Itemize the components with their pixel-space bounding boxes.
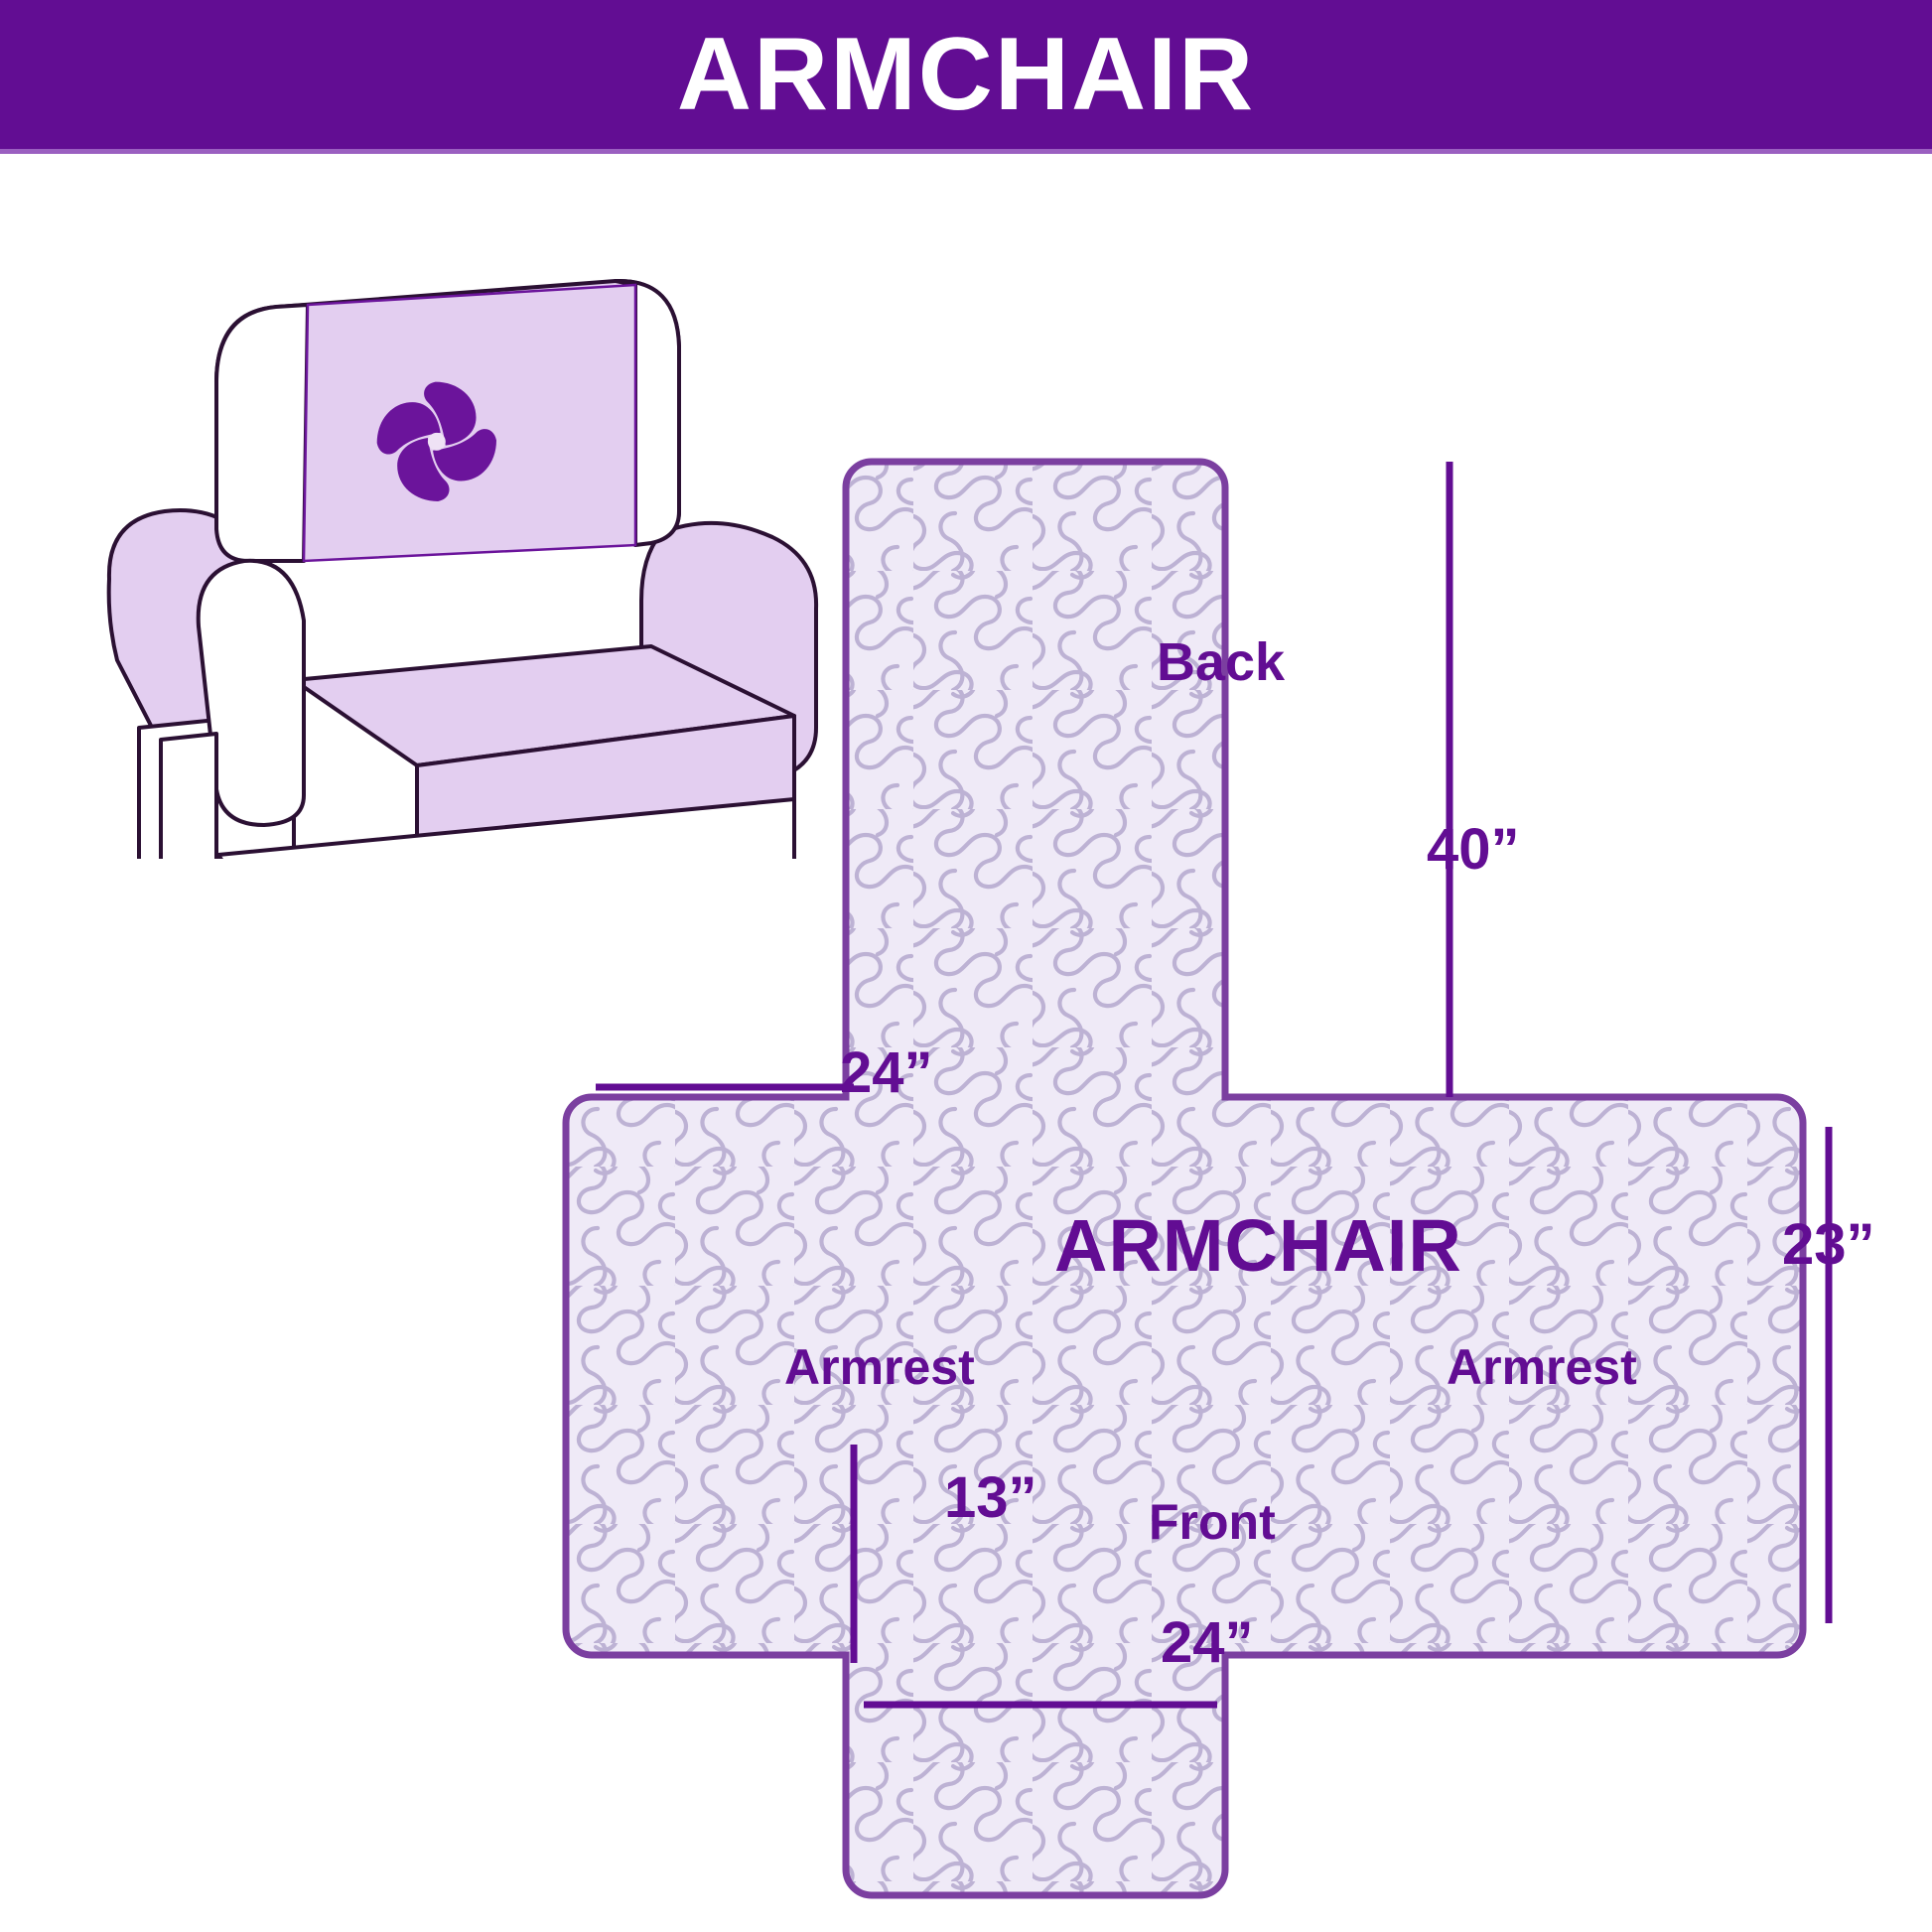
panel-label-front: Front <box>1149 1497 1276 1547</box>
panel-label-armrest-left: Armrest <box>784 1342 975 1392</box>
content-stage: Back ARMCHAIR Armrest Armrest Front 40” … <box>0 154 1932 1932</box>
panel-label-center: ARMCHAIR <box>1054 1209 1462 1283</box>
chair-left-base-panel <box>161 734 216 859</box>
dimension-label-front-height: 13” <box>944 1469 1037 1527</box>
dimension-label-back-width: 24” <box>840 1044 933 1102</box>
panel-label-back: Back <box>1157 635 1285 689</box>
page-title: ARMCHAIR <box>677 23 1255 126</box>
dimension-label-center-height: 23” <box>1782 1216 1875 1274</box>
dimension-label-front-width: 24” <box>1161 1614 1254 1672</box>
panel-label-armrest-right: Armrest <box>1447 1342 1637 1392</box>
header-banner: ARMCHAIR <box>0 0 1932 149</box>
dimension-label-back-height: 40” <box>1427 821 1520 879</box>
chair-back-left-wing <box>216 305 308 561</box>
